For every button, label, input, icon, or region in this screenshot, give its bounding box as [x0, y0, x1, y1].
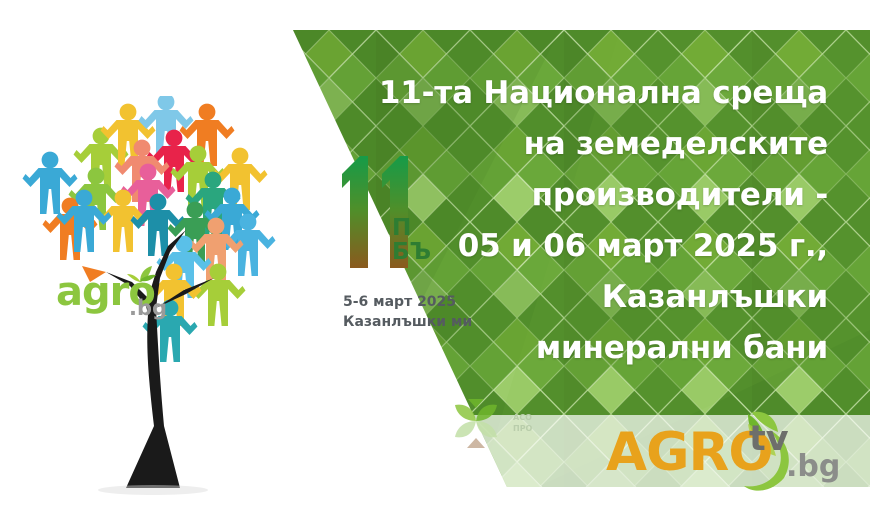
watermark-tv-text: tv — [749, 422, 789, 457]
agro-bg-logo-panel: agro .bg — [0, 0, 300, 519]
agro-wordmark: agro .bg — [56, 272, 186, 328]
agro-tv-watermark: AGRO tv .bg — [606, 412, 836, 494]
headline-text-block: 11-та Национална среща на земеделските п… — [308, 68, 828, 374]
agro-wordmark-suffix: .bg — [129, 296, 167, 320]
headline-line-6: минерални бани — [308, 323, 828, 374]
headline-line-2: на земеделските — [308, 119, 828, 170]
headline-line-3: производители - — [308, 170, 828, 221]
four-leaf-clover-icon — [443, 388, 509, 454]
headline-line-4: 05 и 06 март 2025 г., — [308, 221, 828, 272]
screenshot-root: agro .bg — [0, 0, 870, 519]
association-line-2: ПРО — [513, 423, 532, 434]
watermark-agro-text: AGRO — [606, 426, 772, 479]
association-name-text: АСО ПРО — [513, 412, 532, 434]
headline-line-5: Казанлъшки — [308, 272, 828, 323]
association-emblem-block: АСО ПРО — [443, 388, 573, 468]
watermark-bg-text: .bg — [786, 452, 840, 482]
headline-line-1: 11-та Национална среща — [308, 68, 828, 119]
association-line-1: АСО — [513, 412, 532, 423]
